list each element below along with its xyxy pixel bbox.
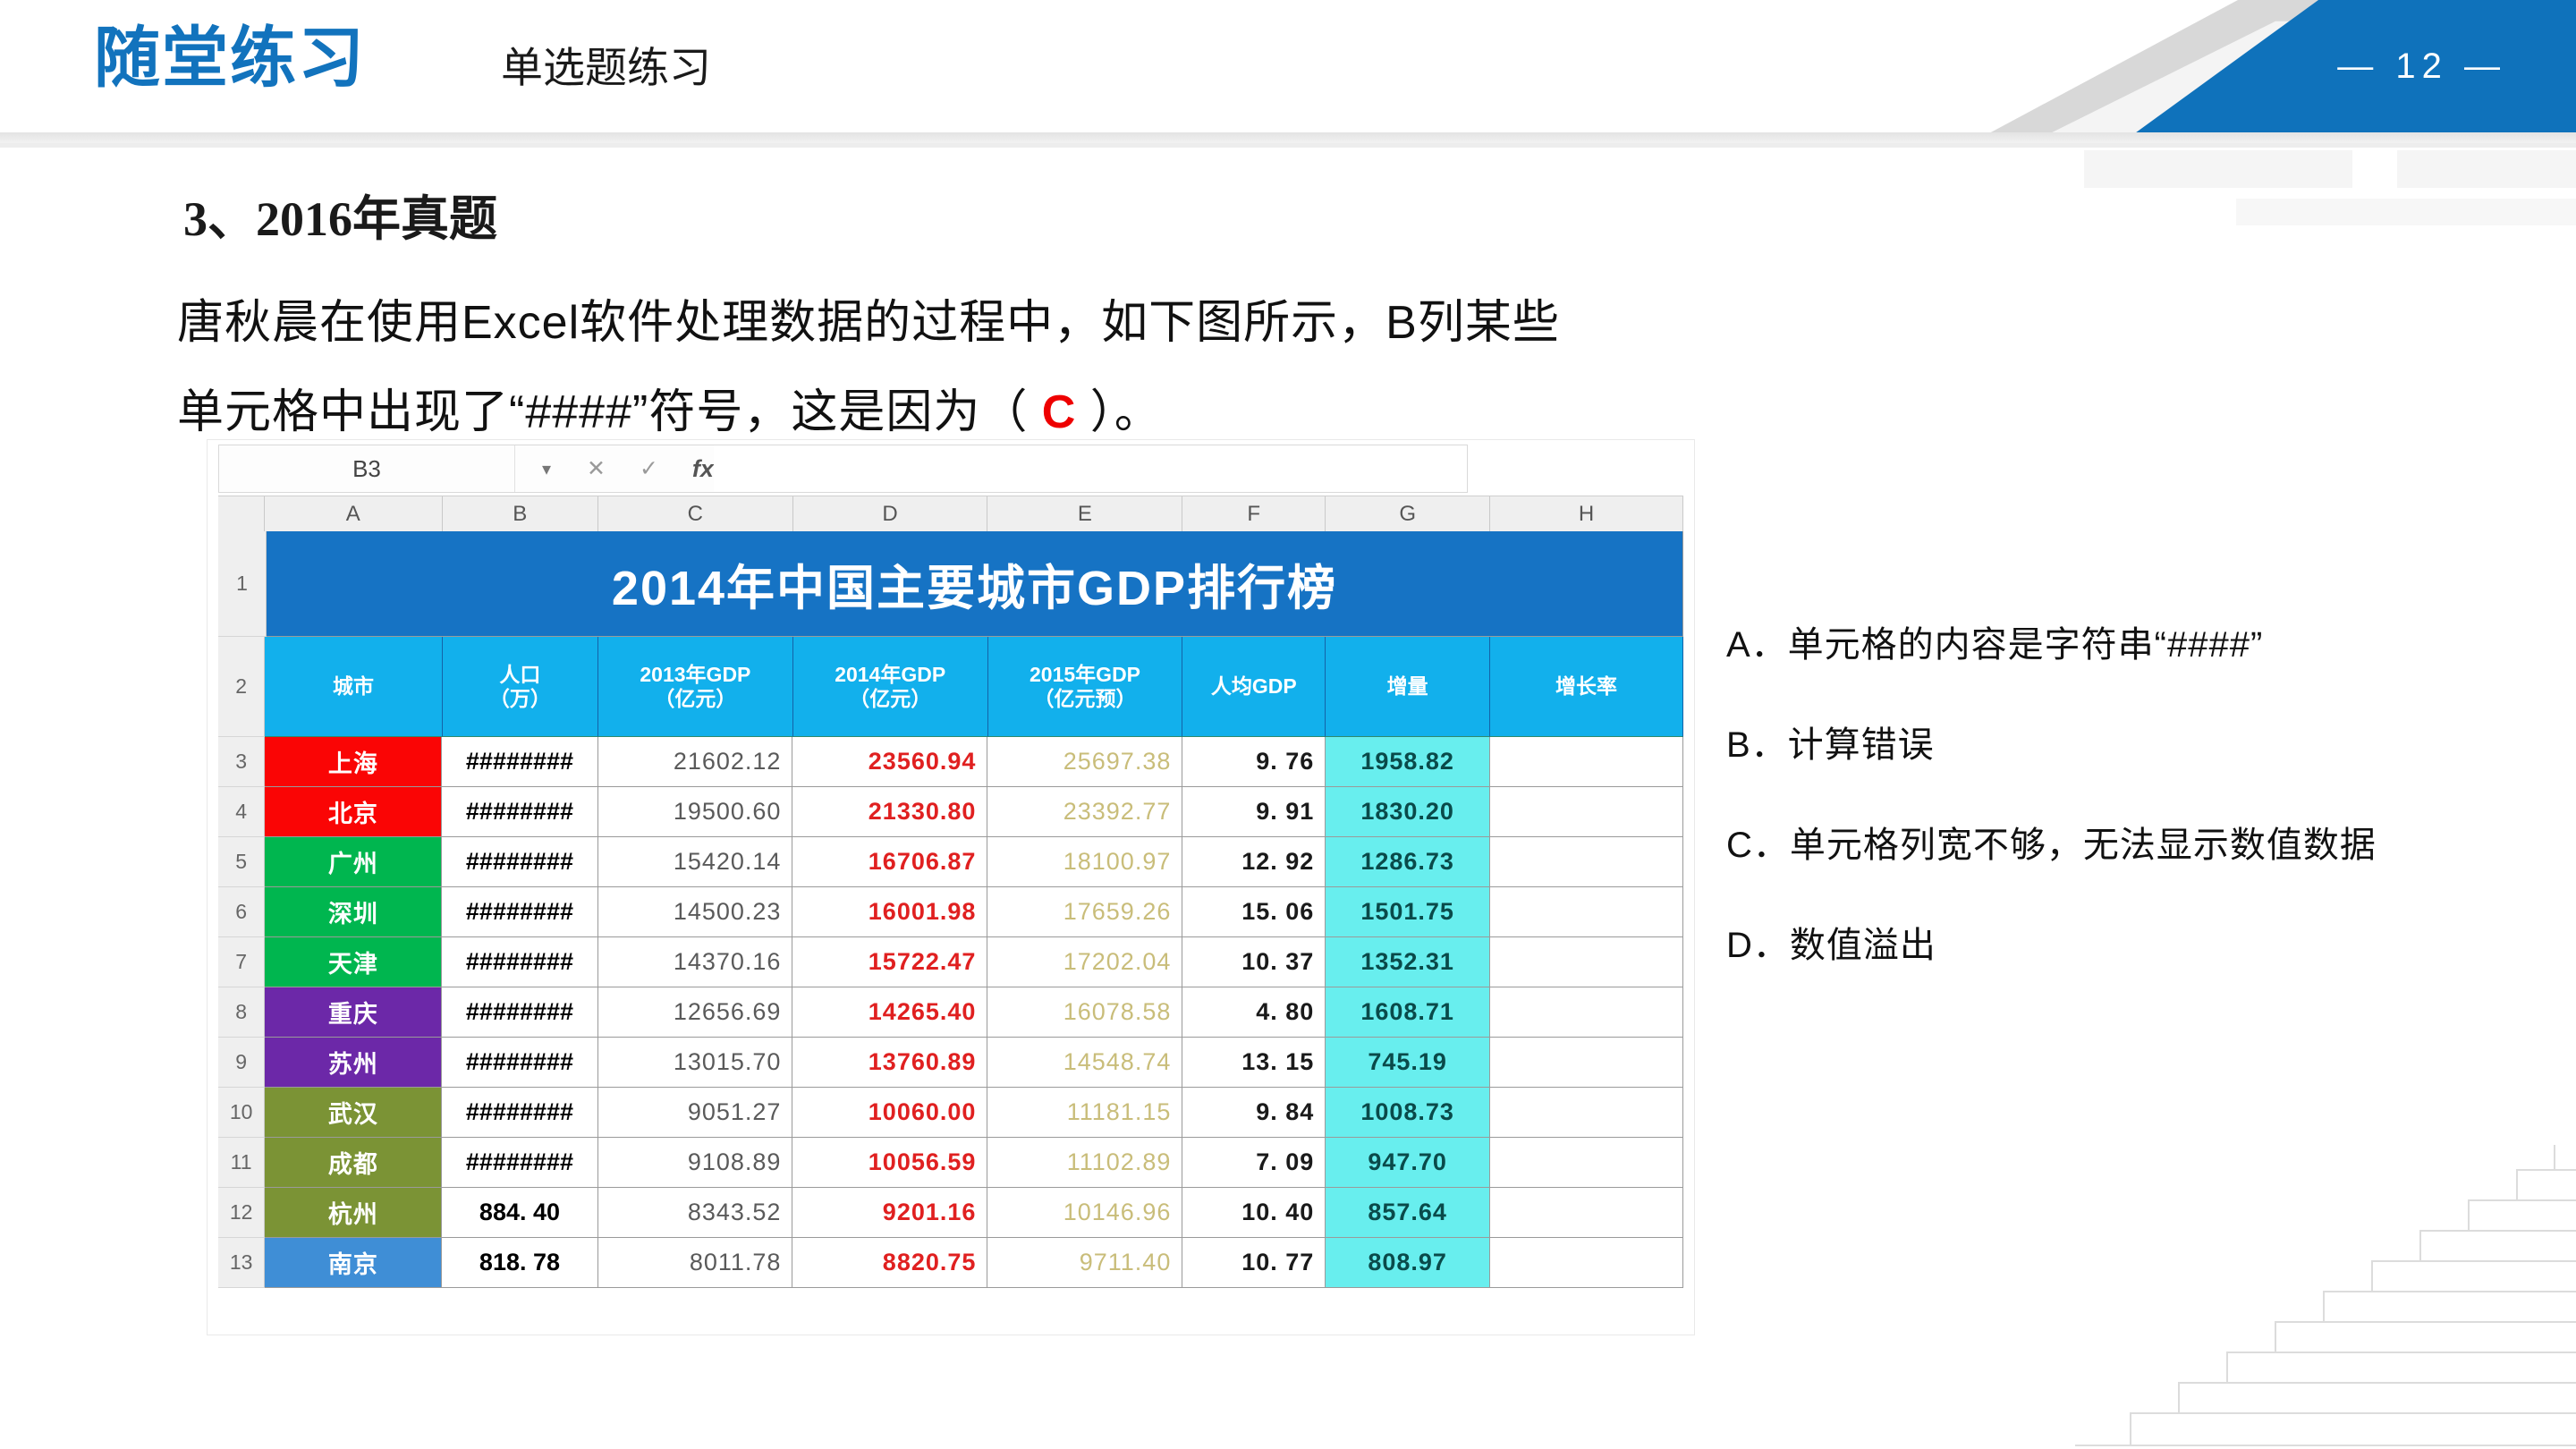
table-cell[interactable]: 15420.14: [598, 837, 793, 887]
table-cell[interactable]: 884. 40: [442, 1188, 597, 1238]
table-cell[interactable]: ########: [442, 887, 597, 937]
table-cell[interactable]: 7. 09: [1182, 1138, 1326, 1188]
table-row: 13南京818. 788011.788820.759711.4010. 7780…: [218, 1238, 1683, 1288]
row-header-6[interactable]: 6: [218, 887, 265, 937]
selected-answer: C: [1042, 386, 1077, 438]
table-cell[interactable]: 10060.00: [792, 1088, 987, 1138]
header-divider-shadow: [0, 143, 2576, 148]
row-header-11[interactable]: 11: [218, 1138, 265, 1188]
row-header-10[interactable]: 10: [218, 1088, 265, 1138]
table-cell[interactable]: 13760.89: [792, 1038, 987, 1088]
question-number: 3、2016年真题: [183, 179, 497, 250]
column-header-h[interactable]: H: [1490, 496, 1683, 532]
table-cell[interactable]: 上海: [265, 737, 442, 787]
table-cell[interactable]: 13. 15: [1182, 1038, 1326, 1088]
table-cell[interactable]: [1490, 987, 1683, 1038]
column-header-a[interactable]: A: [265, 496, 442, 532]
stairs-decoration: [2075, 1145, 2576, 1449]
table-cell[interactable]: ########: [442, 1138, 597, 1188]
table-cell[interactable]: [1490, 887, 1683, 937]
table-row: 12杭州884. 408343.529201.1610146.9610. 408…: [218, 1188, 1683, 1238]
table-cell[interactable]: 808.97: [1326, 1238, 1490, 1288]
table-cell[interactable]: 10. 77: [1182, 1238, 1326, 1288]
table-cell[interactable]: 1008.73: [1326, 1088, 1490, 1138]
table-cell[interactable]: 重庆: [265, 987, 442, 1038]
table-cell[interactable]: 8343.52: [598, 1188, 793, 1238]
table-cell[interactable]: 10056.59: [792, 1138, 987, 1188]
question-line-1: 唐秋晨在使用Excel软件处理数据的过程中，如下图所示，B列某些: [177, 284, 1560, 352]
table-cell[interactable]: 8820.75: [792, 1238, 987, 1288]
row-header-12[interactable]: 12: [218, 1188, 265, 1238]
row-header-4[interactable]: 4: [218, 787, 265, 837]
table-cell[interactable]: 1352.31: [1326, 937, 1490, 987]
table-cell[interactable]: 10. 37: [1182, 937, 1326, 987]
table-cell[interactable]: 18100.97: [987, 837, 1182, 887]
column-header-e[interactable]: E: [987, 496, 1182, 532]
table-cell[interactable]: 15. 06: [1182, 887, 1326, 937]
table-header-cell[interactable]: 增量: [1326, 637, 1490, 737]
table-cell[interactable]: [1490, 1138, 1683, 1188]
table-cell[interactable]: 23560.94: [792, 737, 987, 787]
table-cell[interactable]: 10. 40: [1182, 1188, 1326, 1238]
table-row: 4北京########19500.6021330.8023392.779. 91…: [218, 787, 1683, 837]
table-cell[interactable]: [1490, 737, 1683, 787]
table-header-cell[interactable]: 人口（万）: [443, 637, 598, 737]
column-header-b[interactable]: B: [443, 496, 598, 532]
table-cell[interactable]: 1608.71: [1326, 987, 1490, 1038]
table-header-cell[interactable]: 城市: [265, 637, 442, 737]
table-cell[interactable]: ########: [442, 1038, 597, 1088]
header-title: 随堂练习: [94, 25, 366, 91]
formula-bar-buttons: ✕ ✓ fx: [578, 455, 714, 483]
table-cell[interactable]: 武汉: [265, 1088, 442, 1138]
table-header-cell[interactable]: 人均GDP: [1182, 637, 1326, 737]
table-cell[interactable]: 947.70: [1326, 1138, 1490, 1188]
table-cell[interactable]: 16001.98: [792, 887, 987, 937]
table-cell[interactable]: 1501.75: [1326, 887, 1490, 937]
table-cell[interactable]: 745.19: [1326, 1038, 1490, 1088]
table-cell[interactable]: ########: [442, 937, 597, 987]
table-cell[interactable]: 857.64: [1326, 1188, 1490, 1238]
excel-formula-bar: B3 ▾ ✕ ✓ fx: [218, 445, 1468, 493]
cancel-icon[interactable]: ✕: [587, 455, 606, 482]
table-cell[interactable]: 17202.04: [987, 937, 1182, 987]
spreadsheet-grid: 12014年中国主要城市GDP排行榜2城市人口（万）2013年GDP（亿元）20…: [218, 531, 1683, 1288]
question-line-2-before: 单元格中出现了“####”符号，这是因为（: [177, 386, 1028, 438]
table-cell[interactable]: 9. 76: [1182, 737, 1326, 787]
option-d[interactable]: D．数值溢出: [1726, 916, 1936, 968]
table-cell[interactable]: ########: [442, 987, 597, 1038]
table-header-row: 2城市人口（万）2013年GDP（亿元）2014年GDP（亿元）2015年GDP…: [218, 637, 1683, 737]
table-cell[interactable]: 1830.20: [1326, 787, 1490, 837]
question-line-2-after: ）。: [1090, 386, 1162, 438]
table-cell[interactable]: [1490, 837, 1683, 887]
question-line-2: 单元格中出现了“####”符号，这是因为（ C ）。: [177, 374, 1162, 441]
table-cell[interactable]: 11181.15: [987, 1088, 1182, 1138]
table-cell[interactable]: 8011.78: [598, 1238, 793, 1288]
table-title-cell[interactable]: 2014年中国主要城市GDP排行榜: [267, 531, 1683, 637]
table-title-row: 12014年中国主要城市GDP排行榜: [218, 531, 1683, 637]
row-header-7[interactable]: 7: [218, 937, 265, 987]
table-cell[interactable]: 9108.89: [598, 1138, 793, 1188]
table-cell[interactable]: 16706.87: [792, 837, 987, 887]
table-cell[interactable]: 成都: [265, 1138, 442, 1188]
table-cell[interactable]: 21330.80: [792, 787, 987, 837]
table-header-cell[interactable]: 2014年GDP（亿元）: [793, 637, 988, 737]
table-cell[interactable]: 1958.82: [1326, 737, 1490, 787]
table-row: 9苏州########13015.7013760.8914548.7413. 1…: [218, 1038, 1683, 1088]
column-header-row: ABCDEFGH: [218, 496, 1683, 533]
table-cell[interactable]: 25697.38: [987, 737, 1182, 787]
row-header-5[interactable]: 5: [218, 837, 265, 887]
table-cell[interactable]: ########: [442, 837, 597, 887]
table-cell[interactable]: 19500.60: [598, 787, 793, 837]
table-cell[interactable]: 杭州: [265, 1188, 442, 1238]
table-cell[interactable]: 818. 78: [442, 1238, 597, 1288]
table-cell[interactable]: 深圳: [265, 887, 442, 937]
row-header-8[interactable]: 8: [218, 987, 265, 1038]
table-cell[interactable]: 15722.47: [792, 937, 987, 987]
column-header-f[interactable]: F: [1182, 496, 1326, 532]
table-row: 8重庆########12656.6914265.4016078.584. 80…: [218, 987, 1683, 1038]
decor-strip-3: [2236, 199, 2576, 225]
table-cell[interactable]: 12656.69: [598, 987, 793, 1038]
option-b[interactable]: B．计算错误: [1726, 716, 1935, 767]
table-cell[interactable]: 23392.77: [987, 787, 1182, 837]
table-cell[interactable]: 17659.26: [987, 887, 1182, 937]
check-icon[interactable]: ✓: [640, 455, 658, 482]
table-cell[interactable]: [1490, 1238, 1683, 1288]
table-cell[interactable]: 10146.96: [987, 1188, 1182, 1238]
table-row: 7天津########14370.1615722.4717202.0410. 3…: [218, 937, 1683, 987]
table-cell[interactable]: ########: [442, 787, 597, 837]
column-header-d[interactable]: D: [793, 496, 988, 532]
table-row: 11成都########9108.8910056.5911102.897. 09…: [218, 1138, 1683, 1188]
row-header-2[interactable]: 2: [218, 637, 265, 737]
table-cell[interactable]: 9711.40: [987, 1238, 1182, 1288]
header-subtitle: 单选题练习: [501, 47, 711, 89]
table-row: 6深圳########14500.2316001.9817659.2615. 0…: [218, 887, 1683, 937]
table-cell[interactable]: 16078.58: [987, 987, 1182, 1038]
table-cell[interactable]: 9. 84: [1182, 1088, 1326, 1138]
option-a[interactable]: A．单元格的内容是字符串“####”: [1726, 615, 2263, 667]
table-cell[interactable]: [1490, 1188, 1683, 1238]
fx-icon[interactable]: fx: [692, 455, 714, 483]
column-header-c[interactable]: C: [598, 496, 793, 532]
name-box[interactable]: B3: [219, 445, 515, 492]
table-header-cell[interactable]: 2015年GDP（亿元预）: [988, 637, 1183, 737]
table-cell[interactable]: [1490, 787, 1683, 837]
table-cell[interactable]: ########: [442, 1088, 597, 1138]
row-header-13[interactable]: 13: [218, 1238, 265, 1288]
excel-screenshot: B3 ▾ ✕ ✓ fx ABCDEFGH 12014年中国主要城市GDP排行榜2…: [208, 440, 1694, 1335]
table-header-cell[interactable]: 增长率: [1490, 637, 1683, 737]
table-cell[interactable]: 11102.89: [987, 1138, 1182, 1188]
decor-strip-2: [2397, 150, 2576, 188]
table-cell[interactable]: 南京: [265, 1238, 442, 1288]
row-header-1[interactable]: 1: [218, 531, 267, 637]
table-cell[interactable]: ########: [442, 737, 597, 787]
table-cell[interactable]: 北京: [265, 787, 442, 837]
table-cell[interactable]: 12. 92: [1182, 837, 1326, 887]
table-cell[interactable]: 14370.16: [598, 937, 793, 987]
table-cell[interactable]: 14500.23: [598, 887, 793, 937]
row-header-9[interactable]: 9: [218, 1038, 265, 1088]
table-cell[interactable]: [1490, 1088, 1683, 1138]
table-cell[interactable]: 9201.16: [792, 1188, 987, 1238]
formula-input[interactable]: [714, 445, 1467, 492]
table-header-cell[interactable]: 2013年GDP（亿元）: [598, 637, 793, 737]
table-cell[interactable]: 9051.27: [598, 1088, 793, 1138]
table-cell[interactable]: 4. 80: [1182, 987, 1326, 1038]
decor-strip-1: [2084, 150, 2352, 188]
table-cell[interactable]: 1286.73: [1326, 837, 1490, 887]
table-row: 10武汉########9051.2710060.0011181.159. 84…: [218, 1088, 1683, 1138]
table-cell[interactable]: 13015.70: [598, 1038, 793, 1088]
table-row: 3上海########21602.1223560.9425697.389. 76…: [218, 737, 1683, 787]
table-cell[interactable]: 14548.74: [987, 1038, 1182, 1088]
page-number: — 12 —: [2337, 47, 2506, 87]
table-cell[interactable]: 苏州: [265, 1038, 442, 1088]
table-cell[interactable]: 21602.12: [598, 737, 793, 787]
table-cell[interactable]: [1490, 937, 1683, 987]
column-header-g[interactable]: G: [1326, 496, 1490, 532]
table-cell[interactable]: [1490, 1038, 1683, 1088]
select-all-corner[interactable]: [218, 496, 265, 532]
table-cell[interactable]: 14265.40: [792, 987, 987, 1038]
option-c[interactable]: C．单元格列宽不够，无法显示数值数据: [1726, 816, 2377, 868]
table-cell[interactable]: 广州: [265, 837, 442, 887]
row-header-3[interactable]: 3: [218, 737, 265, 787]
slide-header: 随堂练习 单选题练习 — 12 —: [0, 0, 2576, 143]
table-cell[interactable]: 9. 91: [1182, 787, 1326, 837]
table-row: 5广州########15420.1416706.8718100.9712. 9…: [218, 837, 1683, 887]
table-cell[interactable]: 天津: [265, 937, 442, 987]
chevron-down-icon[interactable]: ▾: [515, 458, 578, 480]
